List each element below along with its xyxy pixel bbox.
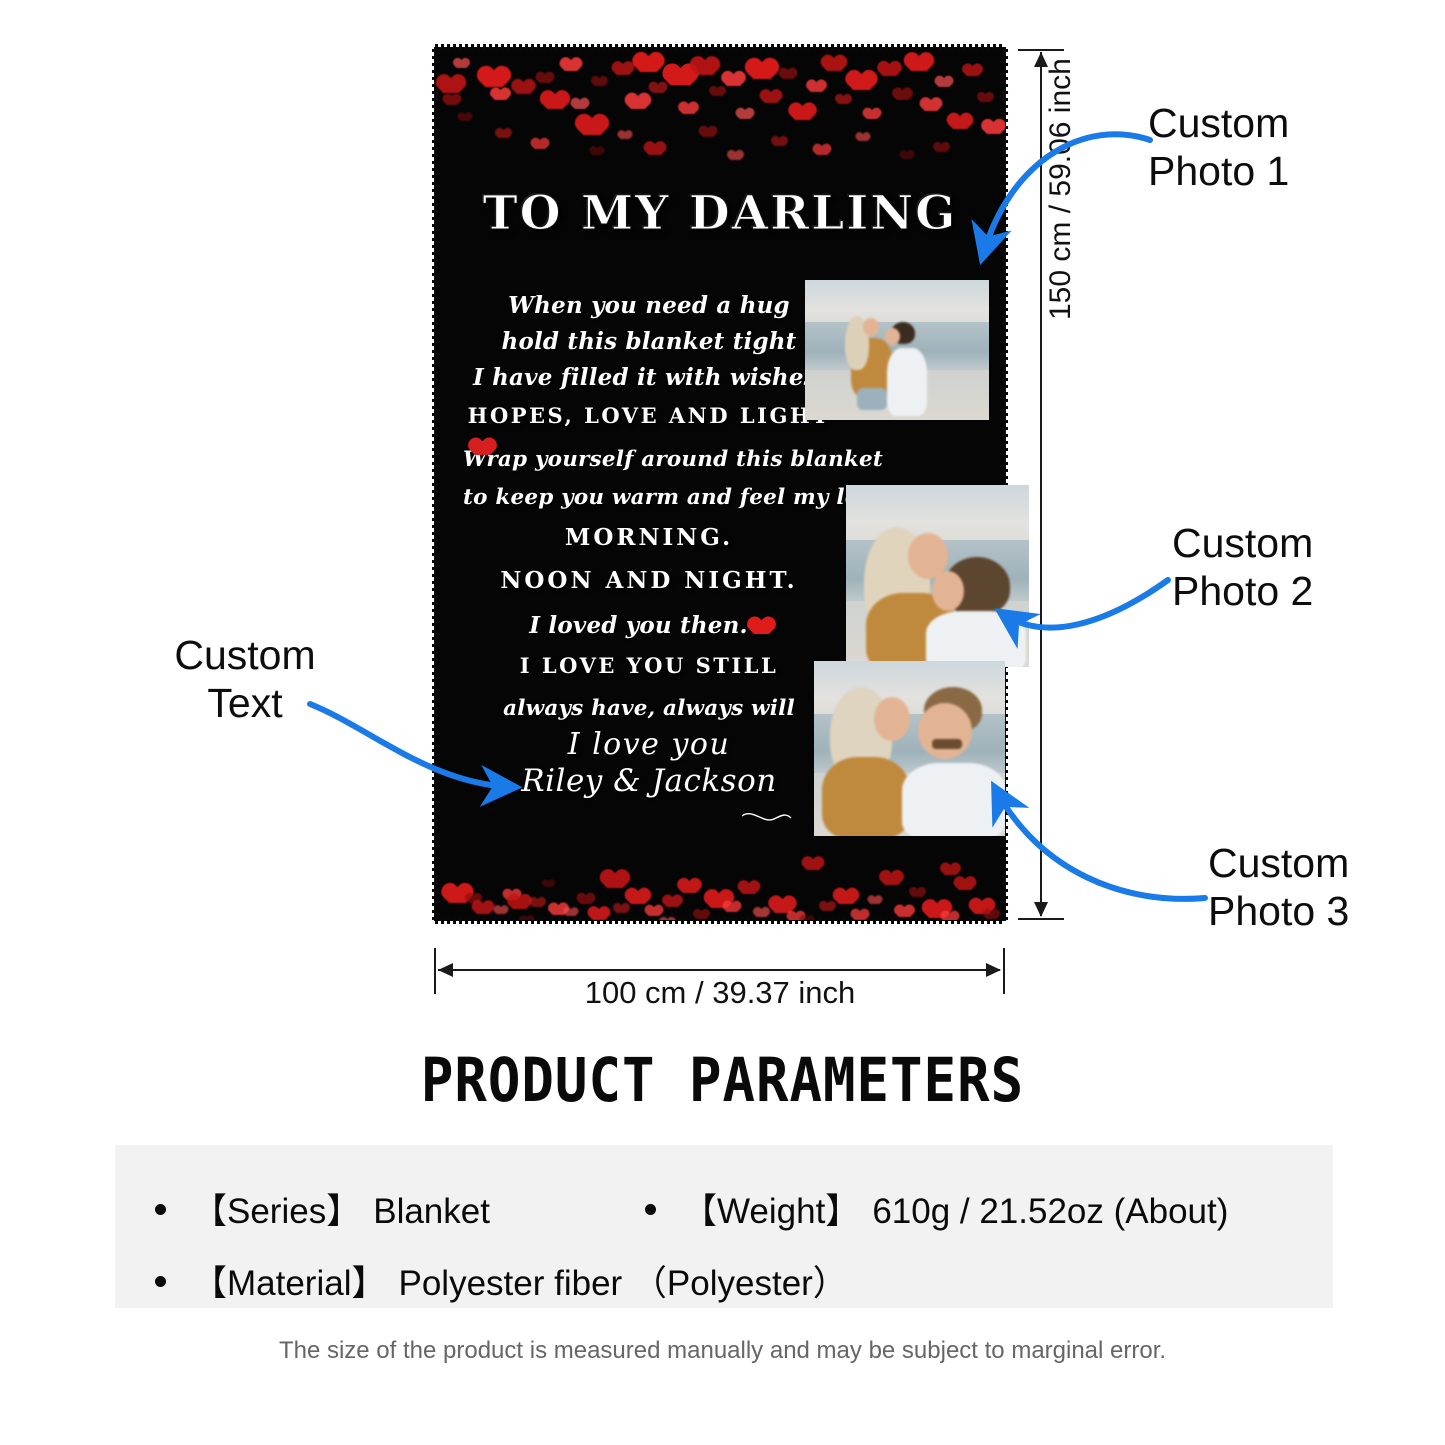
heart-icon [839, 891, 853, 904]
heart-icon [913, 889, 922, 897]
poem-line-7: MORNING. [463, 526, 835, 549]
heart-confetti-bottom [435, 825, 1005, 920]
heart-icon [754, 620, 769, 634]
heart-icon [703, 128, 713, 137]
size-disclaimer: The size of the product is measured manu… [0, 1337, 1445, 1365]
hdim-line [438, 969, 1000, 971]
heart-icon [621, 132, 629, 139]
heart-icon [727, 74, 740, 86]
heart-icon [827, 58, 841, 71]
callout-photo1-line1: Custom [1148, 100, 1289, 148]
callout-custom-photo-3: Custom Photo 3 [1208, 840, 1349, 935]
heart-icon [583, 118, 601, 135]
heart-icon [945, 913, 955, 920]
param-series-value: Blanket [373, 1192, 490, 1232]
heart-icon [807, 859, 819, 870]
poem-line-11: always have, always will [463, 698, 835, 720]
heart-icon [803, 917, 811, 920]
blanket-signature: Riley & Jackson [463, 766, 835, 797]
heart-icon [925, 100, 937, 111]
heart-icon [713, 88, 722, 96]
heart-icon [535, 140, 545, 149]
heart-icon [883, 64, 896, 76]
heart-icon [740, 110, 750, 119]
callout-photo3-line2: Photo 3 [1208, 888, 1349, 936]
callout-custom-photo-1: Custom Photo 1 [1148, 100, 1289, 195]
heart-icon [547, 94, 563, 109]
heart-icon [517, 82, 530, 94]
param-material-value: Polyester fiber （Polyester） [398, 1255, 847, 1306]
heart-icon [987, 911, 996, 919]
heart-icon [663, 919, 672, 920]
heart-icon [967, 66, 978, 76]
heart-icon [485, 70, 503, 87]
vdim-arrow-down [1034, 902, 1048, 917]
heart-icon [903, 152, 911, 159]
heart-icon [649, 144, 661, 155]
heart-icon [499, 130, 508, 138]
heart-icon [457, 60, 466, 68]
heart-icon [683, 881, 696, 893]
heart-icon [617, 905, 626, 913]
product-parameters-heading: PRODUCT PARAMETERS [0, 1045, 1445, 1116]
arrow-to-photo-3 [996, 790, 1205, 899]
heart-icon [540, 74, 550, 83]
heart-icon [513, 897, 526, 909]
poem-line-8: NOON AND NIGHT. [463, 569, 835, 592]
heart-icon [853, 74, 870, 90]
heart-icon [811, 82, 822, 92]
heart-bullet-icon [475, 441, 490, 455]
callout-photo2-line2: Photo 2 [1172, 568, 1313, 616]
heart-icon [937, 144, 946, 152]
callout-custom-text: Custom Text [155, 632, 335, 727]
product-parameters-panel: 【Series】 Blanket 【Weight】 610g / 21.52oz… [115, 1145, 1333, 1308]
heart-icon [897, 90, 908, 100]
heart-icon [859, 134, 867, 141]
param-material: 【Material】 Polyester fiber （Polyester） [155, 1255, 848, 1306]
heart-icon [447, 96, 457, 105]
heart-icon [867, 110, 877, 119]
bullet-icon [155, 1204, 166, 1215]
heart-icon [495, 90, 506, 100]
heart-icon [640, 56, 657, 72]
heart-icon [839, 96, 848, 104]
heart-icon [593, 148, 601, 155]
blanket-title: TO MY DARLING [435, 186, 1005, 241]
heart-confetti-top [435, 48, 1005, 178]
poem-line-4: HOPES, LOVE AND LIGHT [463, 405, 835, 426]
heart-icon [533, 899, 542, 907]
heart-icon [631, 891, 645, 904]
heart-icon [477, 903, 489, 914]
heart-icon [757, 909, 766, 917]
heart-icon [697, 60, 713, 75]
heart-icon [581, 895, 591, 904]
heart-icon [497, 907, 505, 914]
vdim-tick-top [1018, 49, 1064, 51]
heart-icon [959, 879, 971, 890]
blanket-product-image: TO MY DARLING When you need a hug hold t… [435, 48, 1005, 920]
heart-icon [783, 70, 793, 79]
poem-line-9: I loved you then. [529, 612, 747, 639]
heart-icon [871, 897, 879, 904]
heart-icon [545, 881, 552, 887]
poem-line-5: Wrap yourself around this blanket [463, 449, 835, 471]
custom-photo-2 [846, 485, 1029, 667]
heart-icon [575, 100, 585, 109]
heart-icon [731, 152, 740, 160]
heart-icon [565, 60, 577, 71]
bullet-icon [155, 1276, 166, 1287]
heart-icon [945, 865, 956, 875]
poem-line-9-wrap: I loved you then. [463, 614, 835, 637]
callout-custom-photo-2: Custom Photo 2 [1172, 520, 1313, 615]
heart-icon [443, 78, 459, 93]
heart-icon [649, 907, 659, 916]
heart-icon [885, 873, 898, 885]
heart-icon [911, 56, 927, 71]
heart-icon [607, 873, 623, 888]
callout-photo1-line2: Photo 1 [1148, 148, 1289, 196]
heart-icon [817, 146, 827, 155]
poem-line-10: I LOVE YOU STILL [463, 655, 835, 676]
heart-icon [617, 64, 629, 75]
param-series-key: 【Series】 [192, 1183, 361, 1234]
heart-icon [765, 92, 777, 103]
heart-icon [981, 94, 990, 102]
poem-line-12: I love you [463, 730, 835, 760]
heart-icon [461, 114, 469, 121]
poem-line-2: hold this blanket tight [463, 330, 835, 353]
custom-photo-1 [805, 280, 989, 420]
heart-icon [939, 78, 949, 87]
callout-photo2-line1: Custom [1172, 520, 1313, 568]
heart-icon [631, 96, 645, 109]
heart-icon [795, 106, 810, 120]
poem-line-6: to keep you warm and feel my love [463, 487, 835, 509]
vdim-tick-bottom [1018, 918, 1064, 920]
param-series: 【Series】 Blanket [155, 1183, 490, 1234]
heart-icon [595, 78, 604, 86]
heart-icon [671, 68, 690, 85]
signature-flourish-icon [742, 810, 792, 828]
blanket-poem: When you need a hug hold this blanket ti… [463, 294, 835, 797]
custom-photo-3 [814, 661, 1005, 836]
heart-icon [727, 903, 737, 912]
heart-icon [987, 122, 1000, 134]
param-material-key: 【Material】 [192, 1255, 386, 1306]
heart-icon [823, 903, 832, 911]
heart-icon [683, 104, 694, 114]
heart-icon [775, 138, 784, 146]
heart-icon [667, 897, 678, 907]
heart-icon [899, 907, 910, 917]
callout-text-line1: Custom [155, 632, 335, 680]
horizontal-dimension-label: 100 cm / 39.37 inch [435, 975, 1005, 1011]
param-weight-value: 610g / 21.52oz (About) [872, 1192, 1228, 1232]
heart-icon [855, 911, 865, 920]
poem-line-3: I have filled it with wishes, [463, 366, 835, 389]
heart-icon [567, 909, 575, 916]
heart-icon [953, 116, 967, 129]
param-weight-key: 【Weight】 [682, 1183, 860, 1234]
heart-icon [743, 883, 755, 894]
bullet-icon [645, 1204, 656, 1215]
vertical-dimension-label: 150 cm / 59.06 inch [1044, 58, 1078, 320]
callout-photo3-line1: Custom [1208, 840, 1349, 888]
vdim-line [1040, 52, 1042, 916]
heart-icon [449, 887, 466, 903]
callout-text-line2: Text [155, 680, 335, 728]
poem-line-1: When you need a hug [463, 294, 835, 317]
heart-icon [523, 917, 531, 920]
param-weight: 【Weight】 610g / 21.52oz (About) [645, 1183, 1228, 1234]
heart-icon [753, 62, 771, 79]
heart-icon [653, 84, 663, 93]
heart-icon [697, 911, 706, 919]
heart-icon [593, 909, 605, 920]
